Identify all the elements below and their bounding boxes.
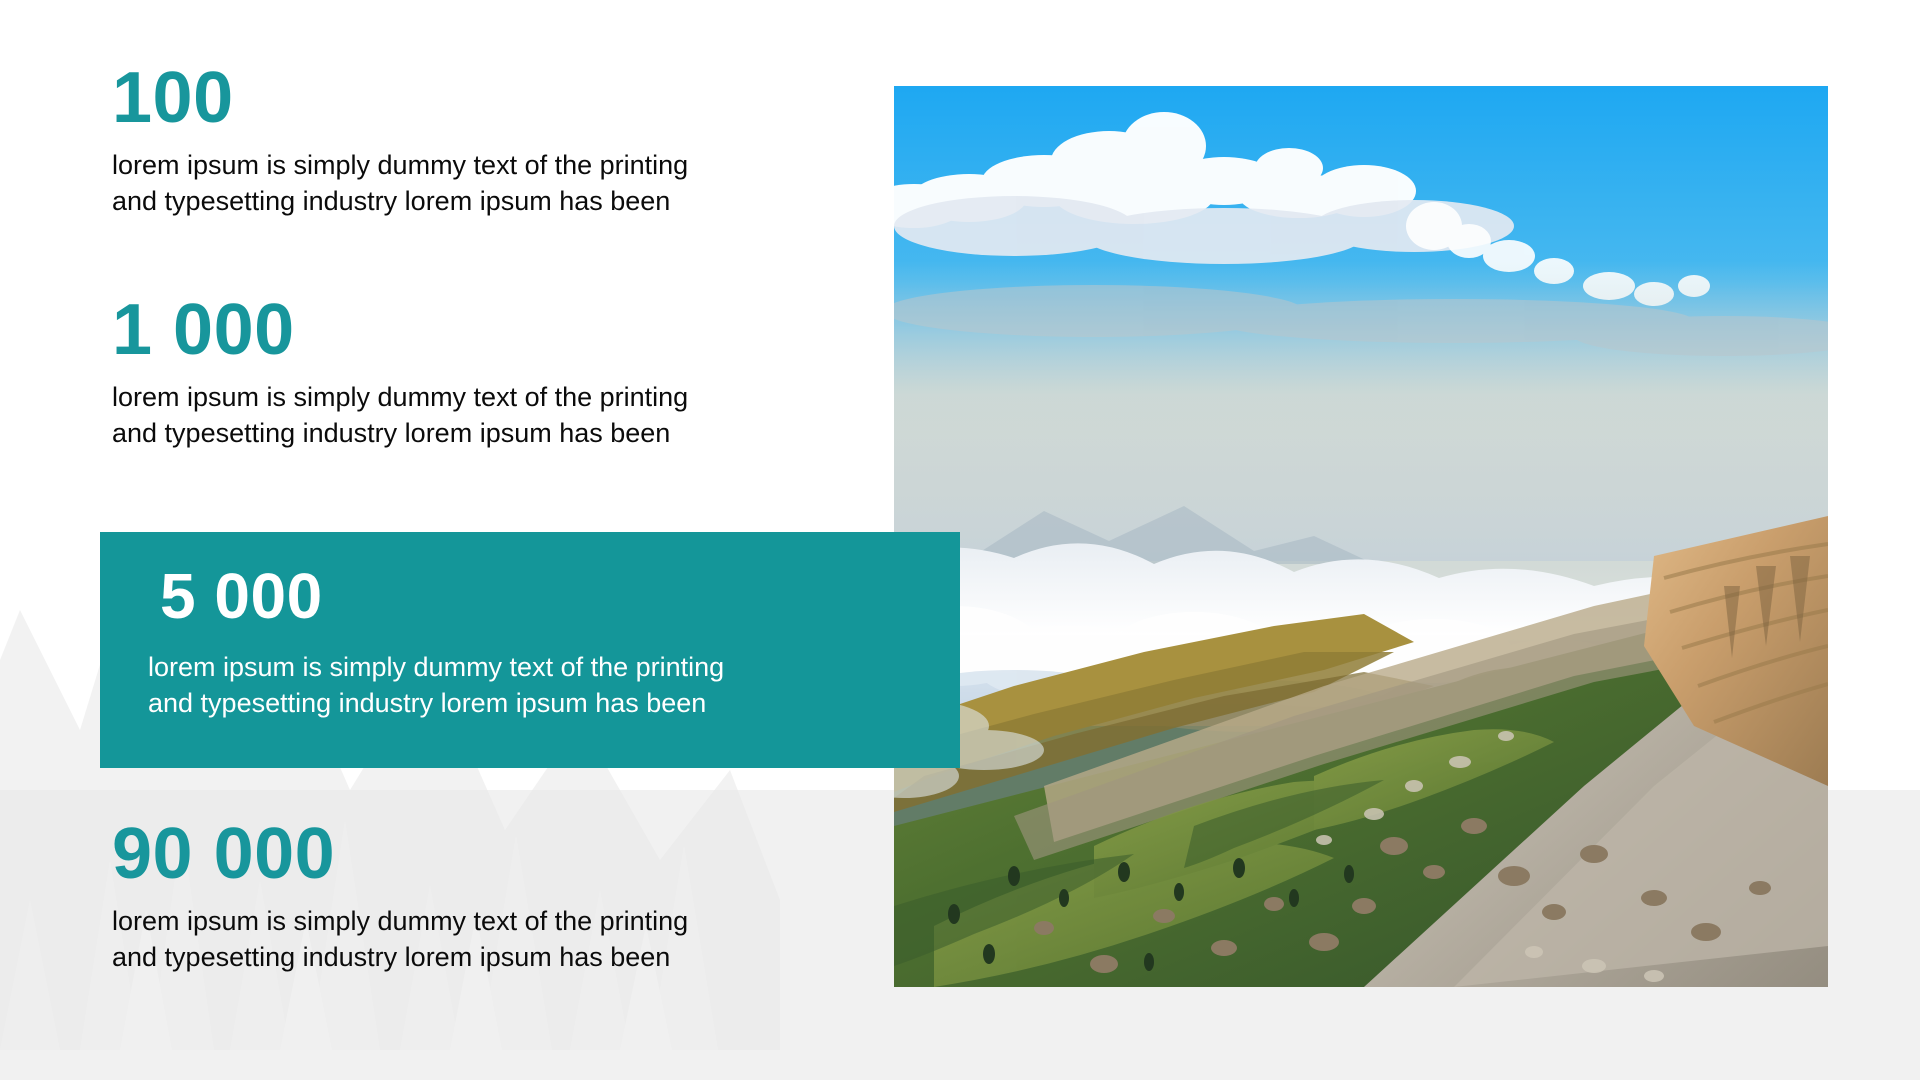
stat-number: 1 000 [112, 294, 842, 366]
mountain-plateau-above-clouds-photo [894, 86, 1828, 987]
stat-block-100: 100 lorem ipsum is simply dummy text of … [112, 62, 842, 220]
stat-number: 100 [112, 62, 842, 134]
stat-number: 5 000 [160, 564, 323, 628]
photo-artwork [894, 86, 1828, 987]
stat-block-90000: 90 000 lorem ipsum is simply dummy text … [112, 818, 842, 976]
stat-description: lorem ipsum is simply dummy text of the … [148, 650, 908, 722]
slide-canvas: 100 lorem ipsum is simply dummy text of … [0, 0, 1920, 1080]
stat-number: 90 000 [112, 818, 842, 890]
stat-description: lorem ipsum is simply dummy text of the … [112, 380, 842, 452]
stat-block-1000: 1 000 lorem ipsum is simply dummy text o… [112, 294, 842, 452]
highlighted-stat-card-5000: 5 000 lorem ipsum is simply dummy text o… [100, 532, 960, 768]
stat-description: lorem ipsum is simply dummy text of the … [112, 148, 842, 220]
stat-description: lorem ipsum is simply dummy text of the … [112, 904, 842, 976]
